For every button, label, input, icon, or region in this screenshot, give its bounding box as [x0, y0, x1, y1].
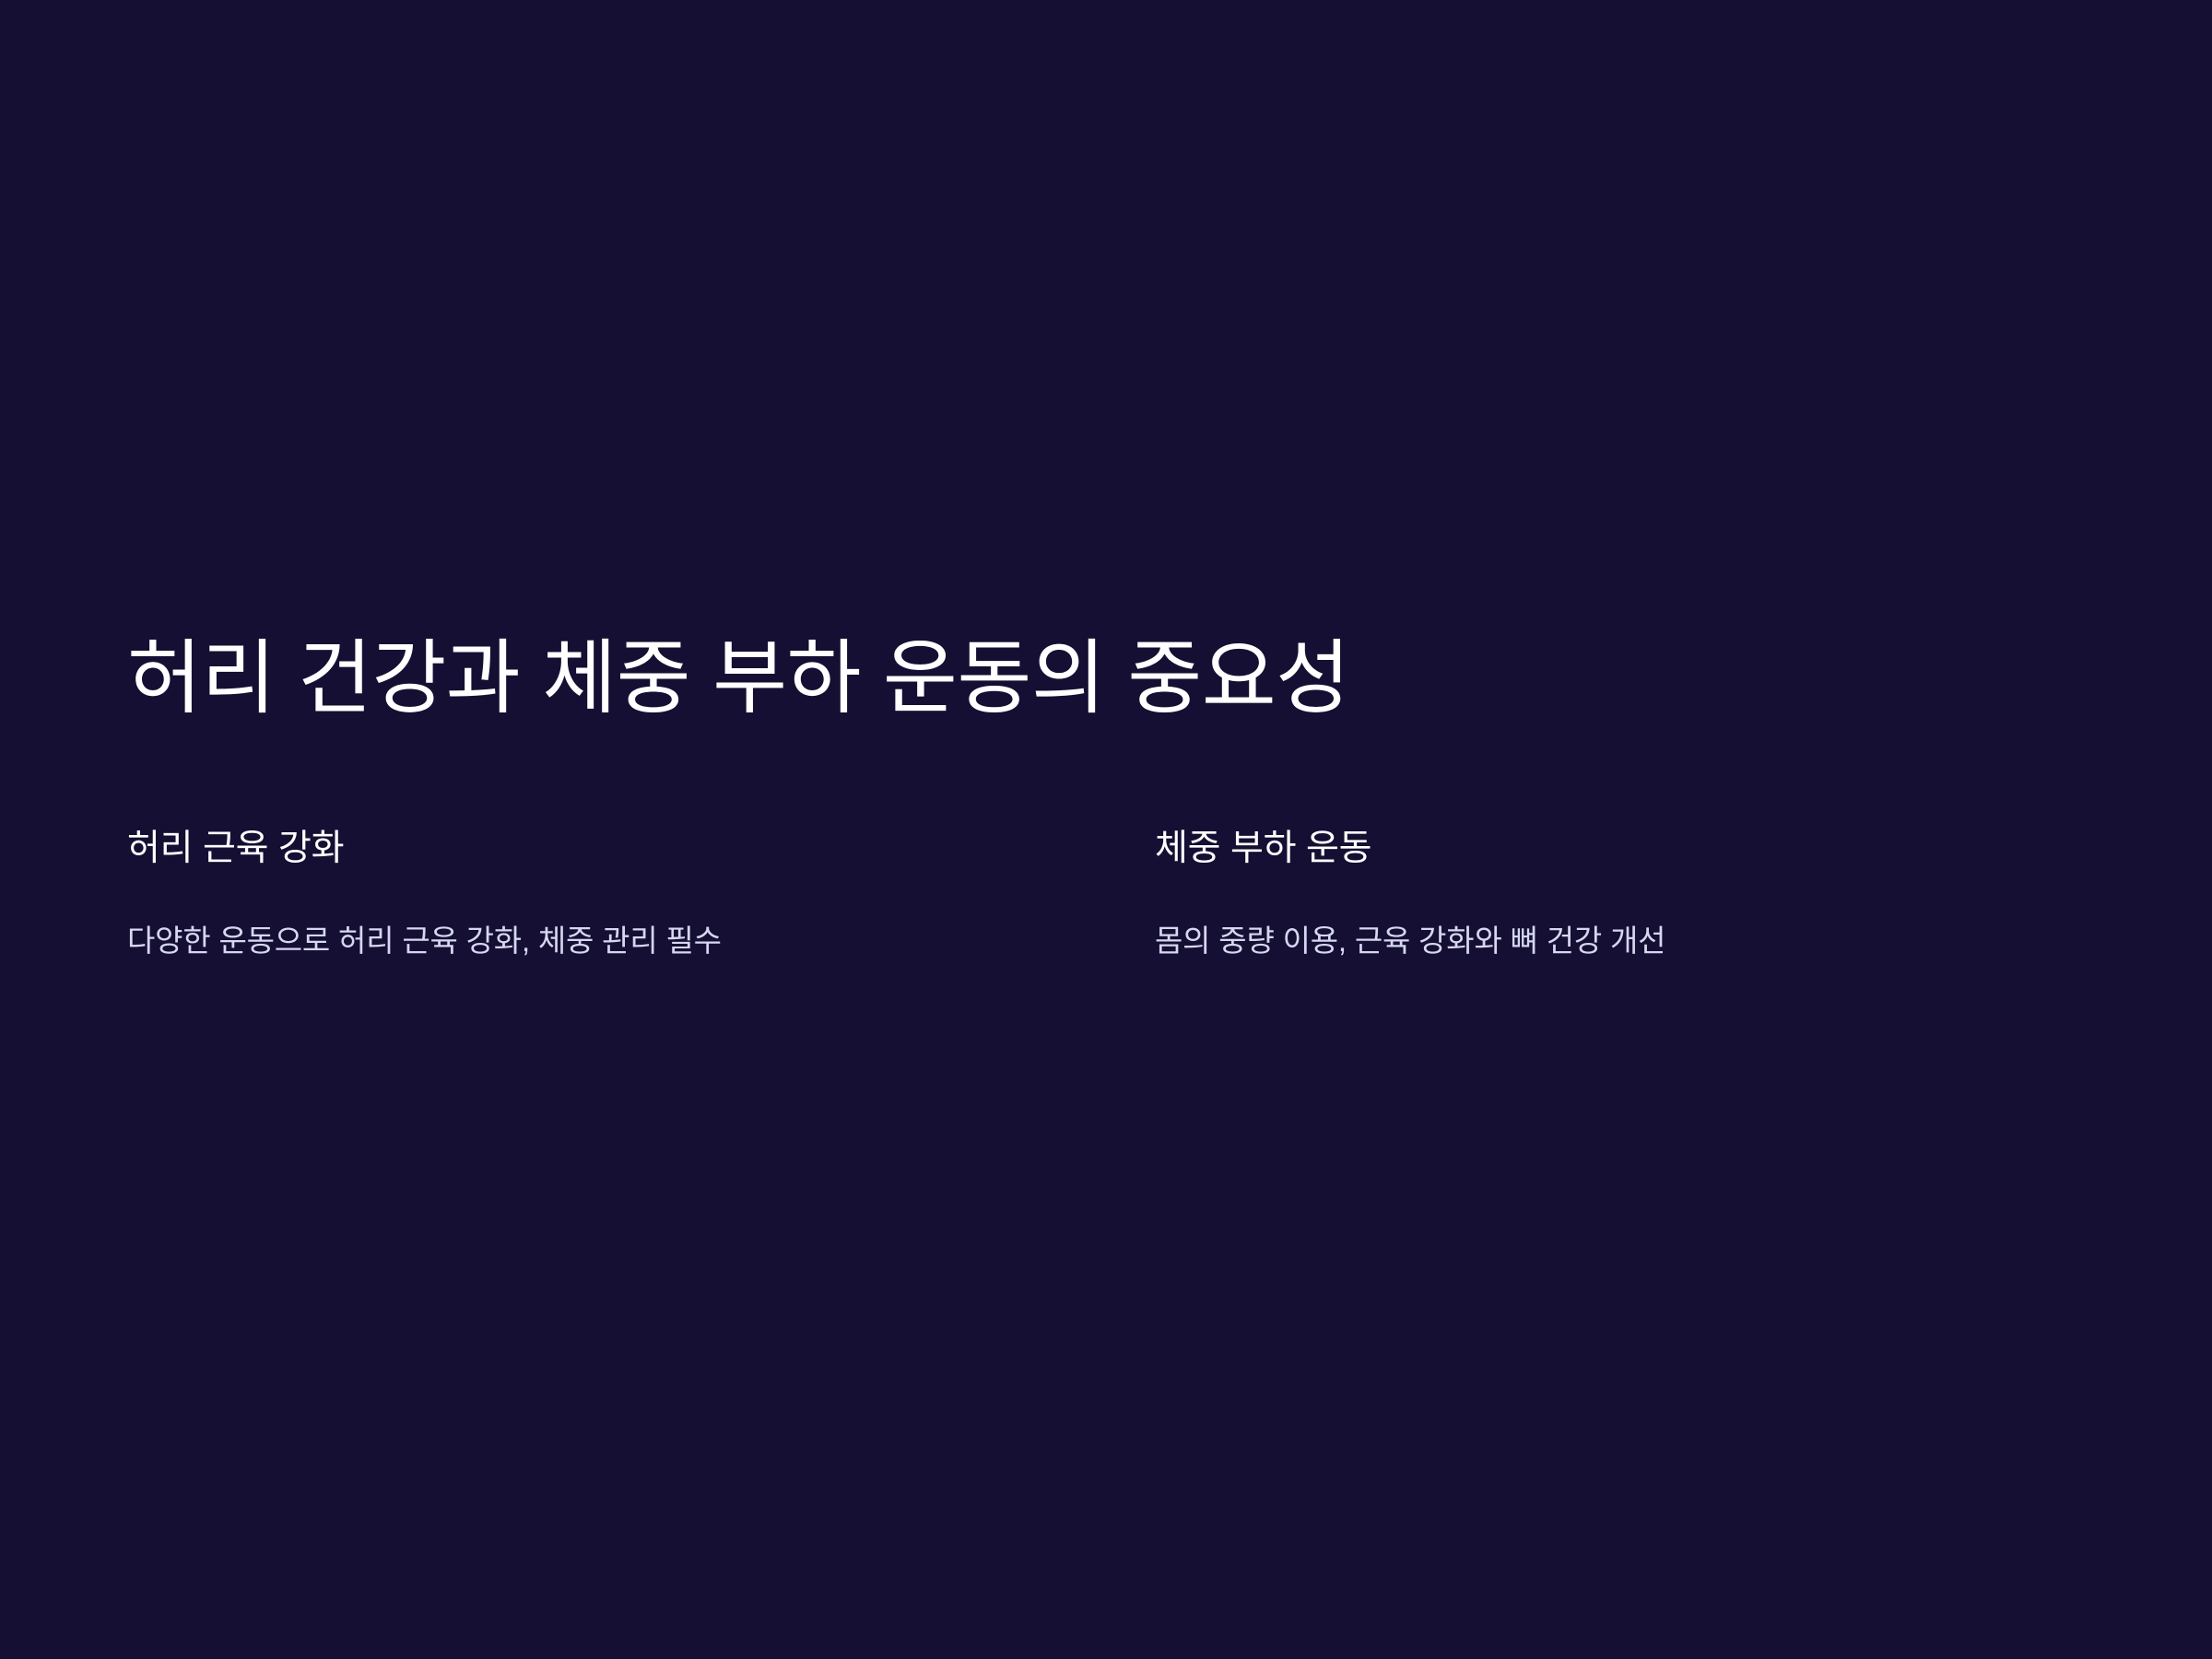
page-title: 허리 건강과 체중 부하 운동의 중요성	[127, 630, 2063, 726]
column-right: 체중 부하 운동 몸의 중량 이용, 근육 강화와 뼈 건강 개선	[1155, 826, 2183, 963]
two-column-body: 허리 근육 강화 다양한 운동으로 허리 근육 강화, 체중 관리 필수 체중 …	[127, 826, 2100, 963]
column-right-heading: 체중 부하 운동	[1155, 826, 2183, 873]
column-left-heading: 허리 근육 강화	[127, 826, 1155, 873]
column-left-body: 다양한 운동으로 허리 근육 강화, 체중 관리 필수	[127, 873, 1155, 963]
presentation-slide: 허리 건강과 체중 부하 운동의 중요성 허리 근육 강화 다양한 운동으로 허…	[0, 0, 2212, 1659]
column-right-body: 몸의 중량 이용, 근육 강화와 뼈 건강 개선	[1155, 873, 2183, 963]
column-left: 허리 근육 강화 다양한 운동으로 허리 근육 강화, 체중 관리 필수	[127, 826, 1155, 963]
